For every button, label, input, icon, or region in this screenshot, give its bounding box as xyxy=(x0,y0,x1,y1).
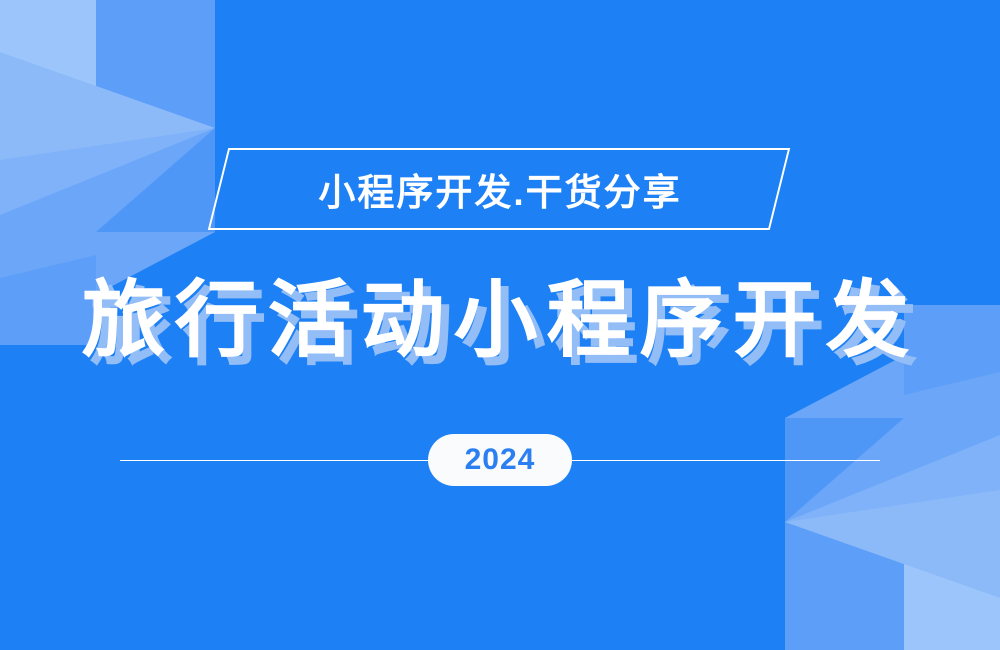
divider-line-right xyxy=(570,460,880,461)
divider-line-left xyxy=(120,460,430,461)
year-badge: 2024 xyxy=(428,434,572,486)
page-title: 旅行活动小程序开发 xyxy=(0,258,1000,368)
year-divider: 2024 xyxy=(0,432,1000,488)
poster-canvas: 小程序开发.干货分享 旅行活动小程序开发 2024 xyxy=(0,0,1000,650)
subtitle-text: 小程序开发.干货分享 xyxy=(0,150,1000,228)
